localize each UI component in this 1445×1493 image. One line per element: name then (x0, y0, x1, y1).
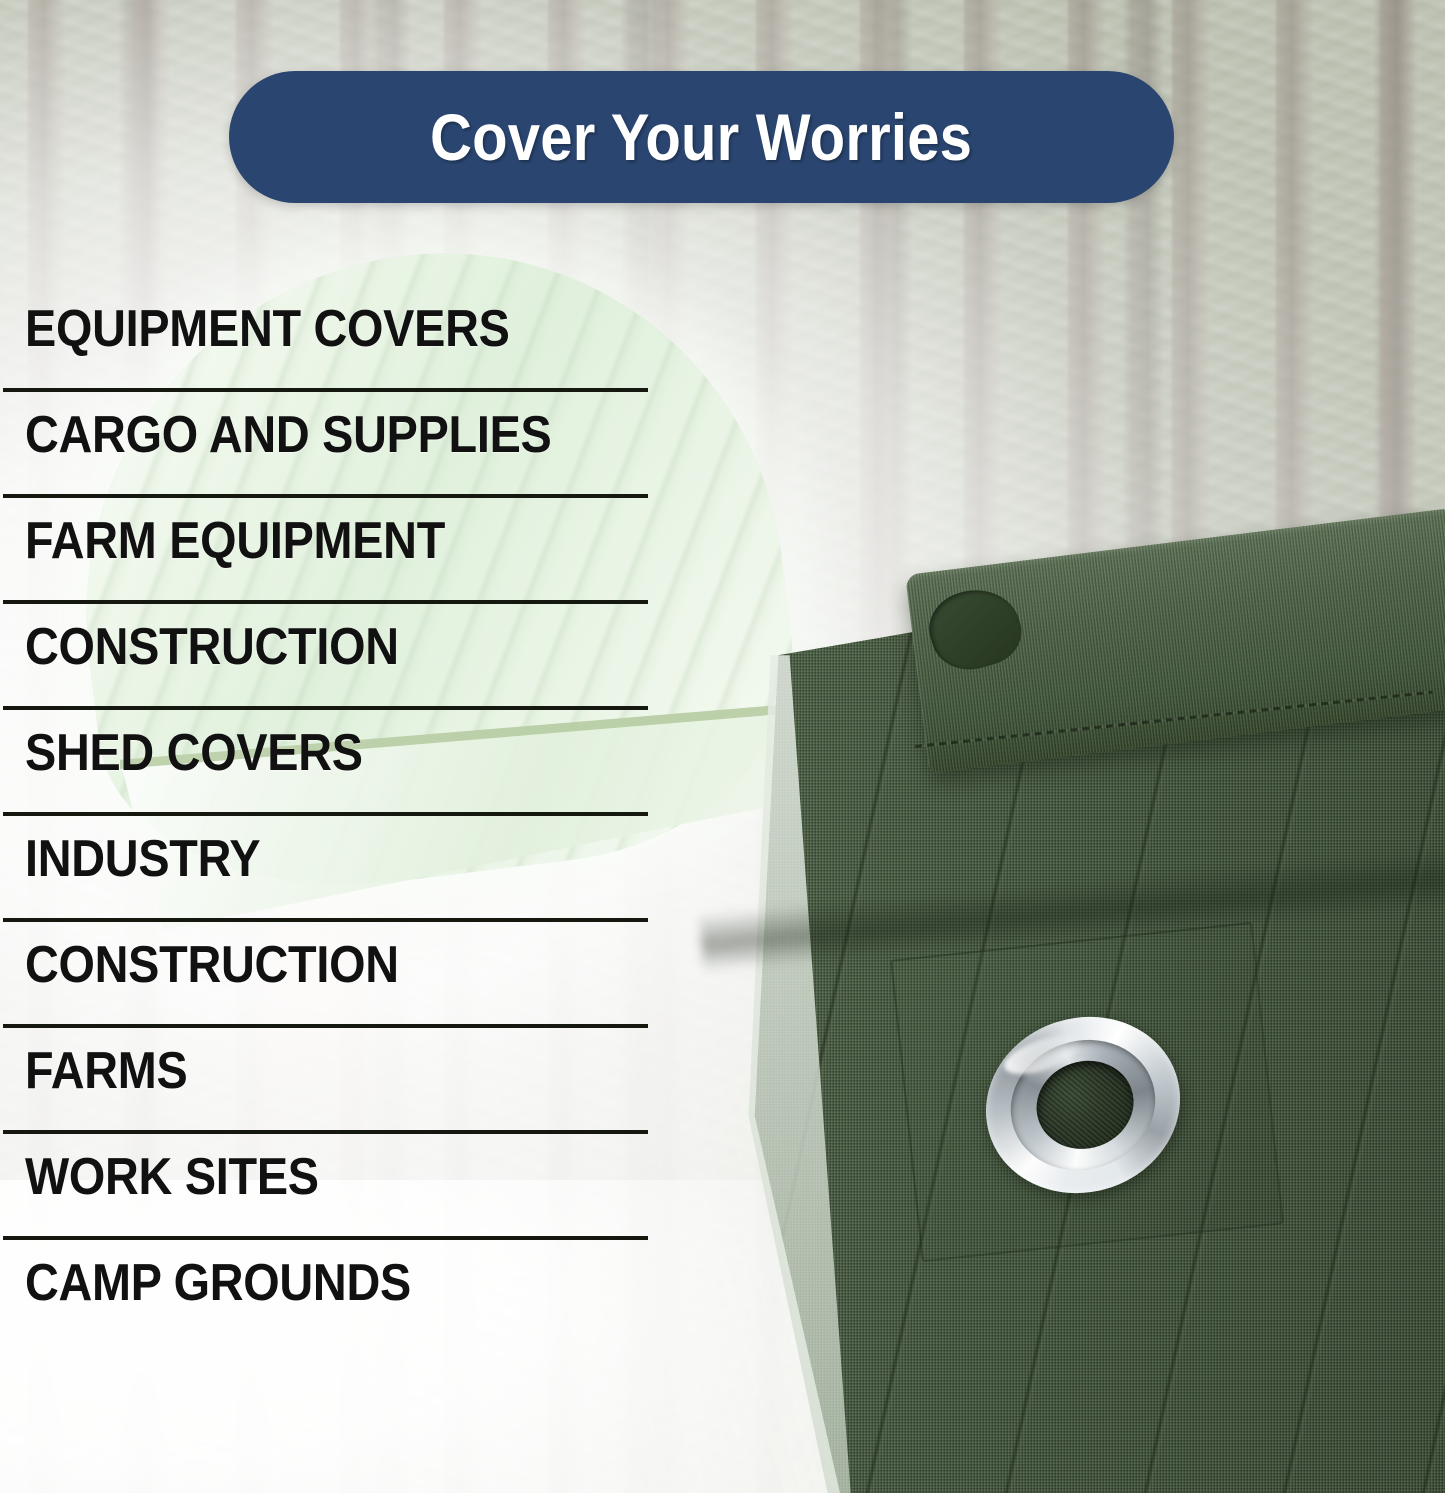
feature-label: CONSTRUCTION (25, 616, 399, 678)
feature-divider (3, 600, 648, 604)
feature-divider (3, 1130, 648, 1134)
feature-list: EQUIPMENT COVERS CARGO AND SUPPLIES FARM… (0, 296, 660, 1356)
feature-divider (3, 1024, 648, 1028)
feature-label: SHED COVERS (25, 722, 363, 784)
feature-divider (3, 1236, 648, 1240)
feature-label: CAMP GROUNDS (25, 1252, 411, 1314)
feature-divider (3, 812, 648, 816)
feature-list-item: FARMS (0, 1038, 660, 1144)
feature-label: FARMS (25, 1040, 187, 1102)
feature-list-item: WORK SITES (0, 1144, 660, 1250)
feature-list-item: CONSTRUCTION (0, 932, 660, 1038)
feature-list-item: INDUSTRY (0, 826, 660, 932)
product-feature-image: Cover Your Worries EQUIPMENT COVERS CARG… (0, 0, 1445, 1493)
feature-list-item: CARGO AND SUPPLIES (0, 402, 660, 508)
feature-list-item: FARM EQUIPMENT (0, 508, 660, 614)
feature-list-item: CAMP GROUNDS (0, 1250, 660, 1356)
feature-divider (3, 494, 648, 498)
feature-label: WORK SITES (25, 1146, 319, 1208)
feature-label: CONSTRUCTION (25, 934, 399, 996)
feature-label: FARM EQUIPMENT (25, 510, 445, 572)
feature-divider (3, 388, 648, 392)
feature-list-item: CONSTRUCTION (0, 614, 660, 720)
feature-label: CARGO AND SUPPLIES (25, 404, 551, 466)
feature-label: EQUIPMENT COVERS (25, 298, 510, 360)
feature-label: INDUSTRY (25, 828, 260, 890)
headline-banner: Cover Your Worries (229, 71, 1174, 203)
feature-list-item: SHED COVERS (0, 720, 660, 826)
feature-divider (3, 706, 648, 710)
feature-list-item: EQUIPMENT COVERS (0, 296, 660, 402)
headline-text: Cover Your Worries (430, 104, 972, 170)
feature-divider (3, 918, 648, 922)
